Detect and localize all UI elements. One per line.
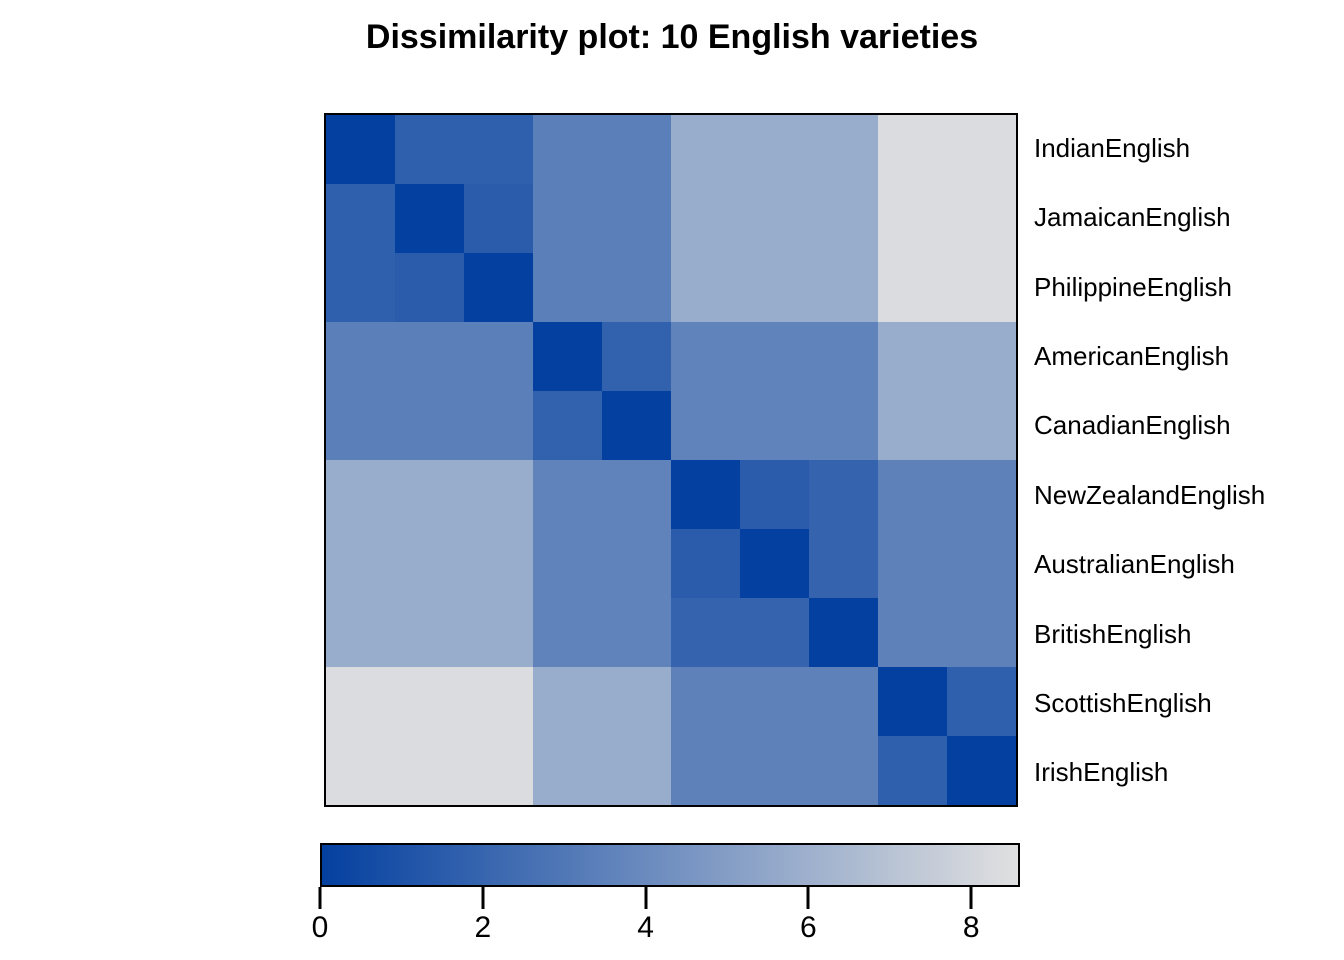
- heatmap-cell: [326, 184, 395, 253]
- row-label-scottishenglish: ScottishEnglish: [1034, 668, 1344, 737]
- row-label-americanenglish: AmericanEnglish: [1034, 321, 1344, 390]
- row-label-newzealandenglish: NewZealandEnglish: [1034, 460, 1344, 529]
- heatmap-cell: [740, 736, 809, 805]
- heatmap-cell: [947, 736, 1016, 805]
- heatmap-cell: [395, 322, 464, 391]
- heatmap-cell: [740, 184, 809, 253]
- heatmap-cell: [395, 391, 464, 460]
- heatmap-cell: [464, 184, 533, 253]
- heatmap-cell: [809, 460, 878, 529]
- heatmap-cell: [878, 253, 947, 322]
- colorbar-tick-label: 4: [637, 913, 654, 943]
- heatmap-cell: [947, 460, 1016, 529]
- colorbar-axis: 02468: [320, 887, 1020, 957]
- heatmap-cell: [533, 253, 602, 322]
- heatmap-cell: [533, 391, 602, 460]
- heatmap-cell: [326, 529, 395, 598]
- heatmap-row-labels: IndianEnglishJamaicanEnglishPhilippineEn…: [1034, 113, 1344, 807]
- heatmap-cell: [464, 115, 533, 184]
- heatmap-cell: [602, 253, 671, 322]
- row-label-canadianenglish: CanadianEnglish: [1034, 391, 1344, 460]
- colorbar-tick: [481, 887, 484, 909]
- heatmap-cell: [395, 736, 464, 805]
- heatmap-cell: [878, 598, 947, 667]
- heatmap-cell: [602, 115, 671, 184]
- heatmap-cell: [464, 736, 533, 805]
- heatmap-cell: [878, 736, 947, 805]
- heatmap-cell: [533, 322, 602, 391]
- colorbar-tick-label: 8: [963, 913, 980, 943]
- heatmap-cell: [740, 667, 809, 736]
- heatmap-cell: [602, 736, 671, 805]
- heatmap-cell: [326, 667, 395, 736]
- heatmap-cell: [671, 460, 740, 529]
- heatmap-cell: [878, 184, 947, 253]
- heatmap-panel: [324, 113, 1018, 807]
- heatmap-cell: [878, 529, 947, 598]
- heatmap-cell: [740, 253, 809, 322]
- heatmap-cell: [464, 598, 533, 667]
- heatmap-cell: [740, 115, 809, 184]
- heatmap-cell: [740, 460, 809, 529]
- row-label-irishenglish: IrishEnglish: [1034, 738, 1344, 807]
- heatmap-cell: [671, 667, 740, 736]
- heatmap-cell: [326, 598, 395, 667]
- heatmap-cell: [671, 529, 740, 598]
- heatmap-cell: [395, 667, 464, 736]
- heatmap-cell: [878, 115, 947, 184]
- heatmap-cell: [740, 322, 809, 391]
- heatmap-cell: [740, 529, 809, 598]
- colorbar-tick: [319, 887, 322, 909]
- row-label-philippineenglish: PhilippineEnglish: [1034, 252, 1344, 321]
- heatmap-cell: [395, 598, 464, 667]
- heatmap-cell: [671, 115, 740, 184]
- heatmap-cell: [602, 184, 671, 253]
- heatmap-cell: [464, 391, 533, 460]
- heatmap-cell: [947, 391, 1016, 460]
- heatmap-cell: [809, 322, 878, 391]
- heatmap-cell: [464, 460, 533, 529]
- heatmap-cell: [602, 667, 671, 736]
- heatmap-cell: [533, 667, 602, 736]
- dissimilarity-plot-figure: Dissimilarity plot: 10 English varieties…: [0, 0, 1344, 960]
- heatmap-cell: [395, 184, 464, 253]
- row-label-indianenglish: IndianEnglish: [1034, 113, 1344, 182]
- colorbar-tick-label: 0: [312, 913, 329, 943]
- heatmap-cell: [533, 184, 602, 253]
- heatmap-cell: [326, 253, 395, 322]
- heatmap-cell: [947, 253, 1016, 322]
- heatmap-cell: [947, 667, 1016, 736]
- heatmap-cell: [533, 598, 602, 667]
- heatmap-cell: [809, 115, 878, 184]
- row-label-jamaicanenglish: JamaicanEnglish: [1034, 182, 1344, 251]
- heatmap-cell: [947, 184, 1016, 253]
- heatmap-cell: [809, 529, 878, 598]
- colorbar-tick-label: 2: [474, 913, 491, 943]
- heatmap-cell: [671, 736, 740, 805]
- heatmap-cell: [395, 529, 464, 598]
- heatmap-cell: [671, 184, 740, 253]
- heatmap-cell: [464, 529, 533, 598]
- heatmap-cell: [395, 460, 464, 529]
- colorbar-tick: [807, 887, 810, 909]
- colorbar: [320, 843, 1020, 887]
- heatmap-cell: [395, 115, 464, 184]
- row-label-australianenglish: AustralianEnglish: [1034, 529, 1344, 598]
- heatmap-cell: [602, 460, 671, 529]
- heatmap-cell: [740, 391, 809, 460]
- heatmap-cell: [947, 115, 1016, 184]
- heatmap-cell: [326, 736, 395, 805]
- heatmap-cell: [326, 322, 395, 391]
- heatmap-cell: [947, 598, 1016, 667]
- heatmap-cell: [464, 322, 533, 391]
- heatmap-cell: [740, 598, 809, 667]
- heatmap-cell: [395, 253, 464, 322]
- heatmap-cell: [602, 598, 671, 667]
- heatmap-cell: [809, 184, 878, 253]
- heatmap-grid: [326, 115, 1016, 805]
- heatmap-cell: [878, 460, 947, 529]
- heatmap-cell: [878, 667, 947, 736]
- heatmap-cell: [809, 667, 878, 736]
- heatmap-cell: [809, 736, 878, 805]
- heatmap-cell: [671, 598, 740, 667]
- heatmap-cell: [809, 391, 878, 460]
- heatmap-cell: [533, 736, 602, 805]
- heatmap-cell: [878, 391, 947, 460]
- page-title: Dissimilarity plot: 10 English varieties: [0, 18, 1344, 57]
- heatmap-cell: [878, 322, 947, 391]
- heatmap-cell: [602, 391, 671, 460]
- colorbar-tick: [970, 887, 973, 909]
- heatmap-cell: [809, 253, 878, 322]
- heatmap-cell: [602, 322, 671, 391]
- heatmap-cell: [947, 322, 1016, 391]
- heatmap-cell: [533, 115, 602, 184]
- heatmap-cell: [671, 322, 740, 391]
- heatmap-cell: [326, 391, 395, 460]
- heatmap-cell: [809, 598, 878, 667]
- colorbar-tick: [644, 887, 647, 909]
- colorbar-gradient: [322, 845, 1018, 885]
- heatmap-cell: [533, 529, 602, 598]
- heatmap-cell: [602, 529, 671, 598]
- heatmap-cell: [947, 529, 1016, 598]
- heatmap-cell: [533, 460, 602, 529]
- row-label-britishenglish: BritishEnglish: [1034, 599, 1344, 668]
- heatmap-cell: [464, 253, 533, 322]
- heatmap-cell: [671, 253, 740, 322]
- heatmap-cell: [326, 460, 395, 529]
- heatmap-cell: [326, 115, 395, 184]
- heatmap-cell: [464, 667, 533, 736]
- colorbar-tick-label: 6: [800, 913, 817, 943]
- heatmap-cell: [671, 391, 740, 460]
